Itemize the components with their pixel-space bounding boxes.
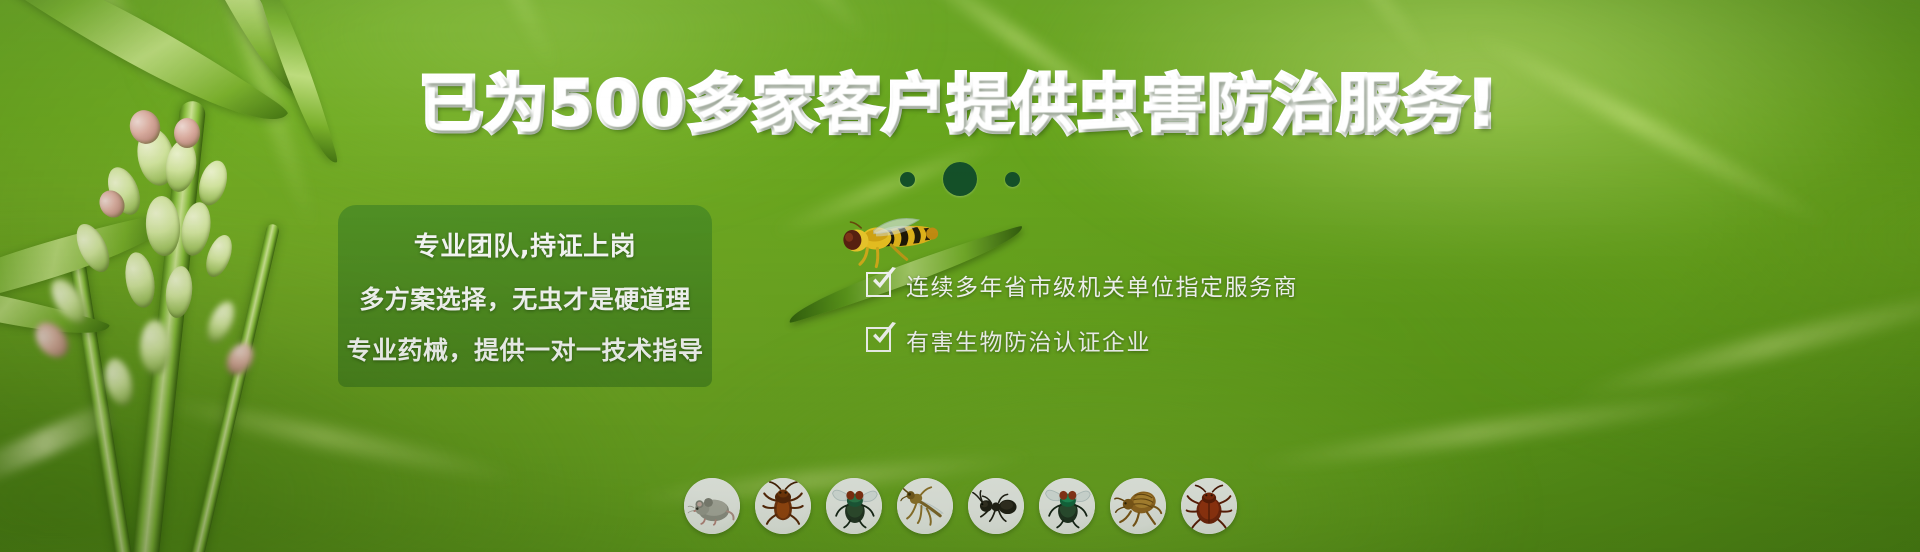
background-vignette (0, 0, 1920, 552)
pest-control-hero-banner: 已为500多家客户提供虫害防治服务! 专业团队,持证上岗 多方案选择，无虫才是硬… (0, 0, 1920, 552)
